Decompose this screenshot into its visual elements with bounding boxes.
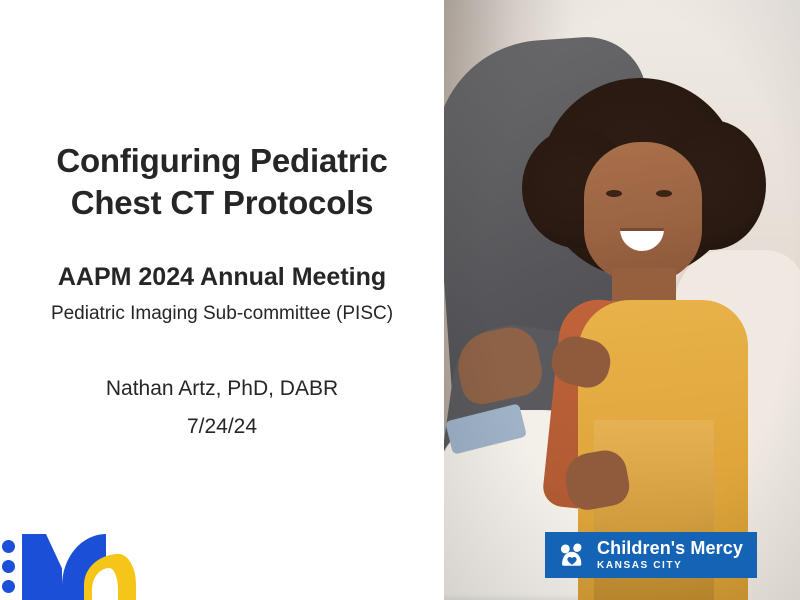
presentation-date: 7/24/24 [12, 415, 432, 439]
dot-icon [2, 540, 15, 553]
photo-vignette [444, 0, 800, 600]
slide-text-column: Configuring Pediatric Chest CT Protocols… [0, 0, 444, 600]
meeting-name: AAPM 2024 Annual Meeting [12, 262, 432, 292]
dot-icon [2, 560, 15, 573]
childrens-mercy-logo: Children's Mercy KANSAS CITY [545, 532, 757, 578]
presentation-slide: Configuring Pediatric Chest CT Protocols… [0, 0, 800, 600]
presenter-block: Nathan Artz, PhD, DABR 7/24/24 [12, 377, 432, 439]
organization-name: Children's Mercy [597, 539, 743, 557]
dots-icon [2, 540, 16, 596]
presenter-name: Nathan Artz, PhD, DABR [12, 377, 432, 401]
committee-name: Pediatric Imaging Sub-committee (PISC) [12, 303, 432, 325]
page-title: Configuring Pediatric Chest CT Protocols [22, 140, 422, 224]
abstract-logo-mark-icon [0, 532, 140, 600]
cover-photo: Children's Mercy KANSAS CITY [444, 0, 800, 600]
subtitle-block: AAPM 2024 Annual Meeting Pediatric Imagi… [12, 262, 432, 325]
children-mercy-heart-icon [555, 538, 589, 572]
title-line-2: Chest CT Protocols [22, 182, 422, 224]
title-line-1: Configuring Pediatric [22, 140, 422, 182]
childrens-mercy-wordmark: Children's Mercy KANSAS CITY [597, 539, 743, 571]
dot-icon [2, 580, 15, 593]
organization-location: KANSAS CITY [597, 561, 743, 571]
chevron-shape-icon [22, 534, 62, 600]
